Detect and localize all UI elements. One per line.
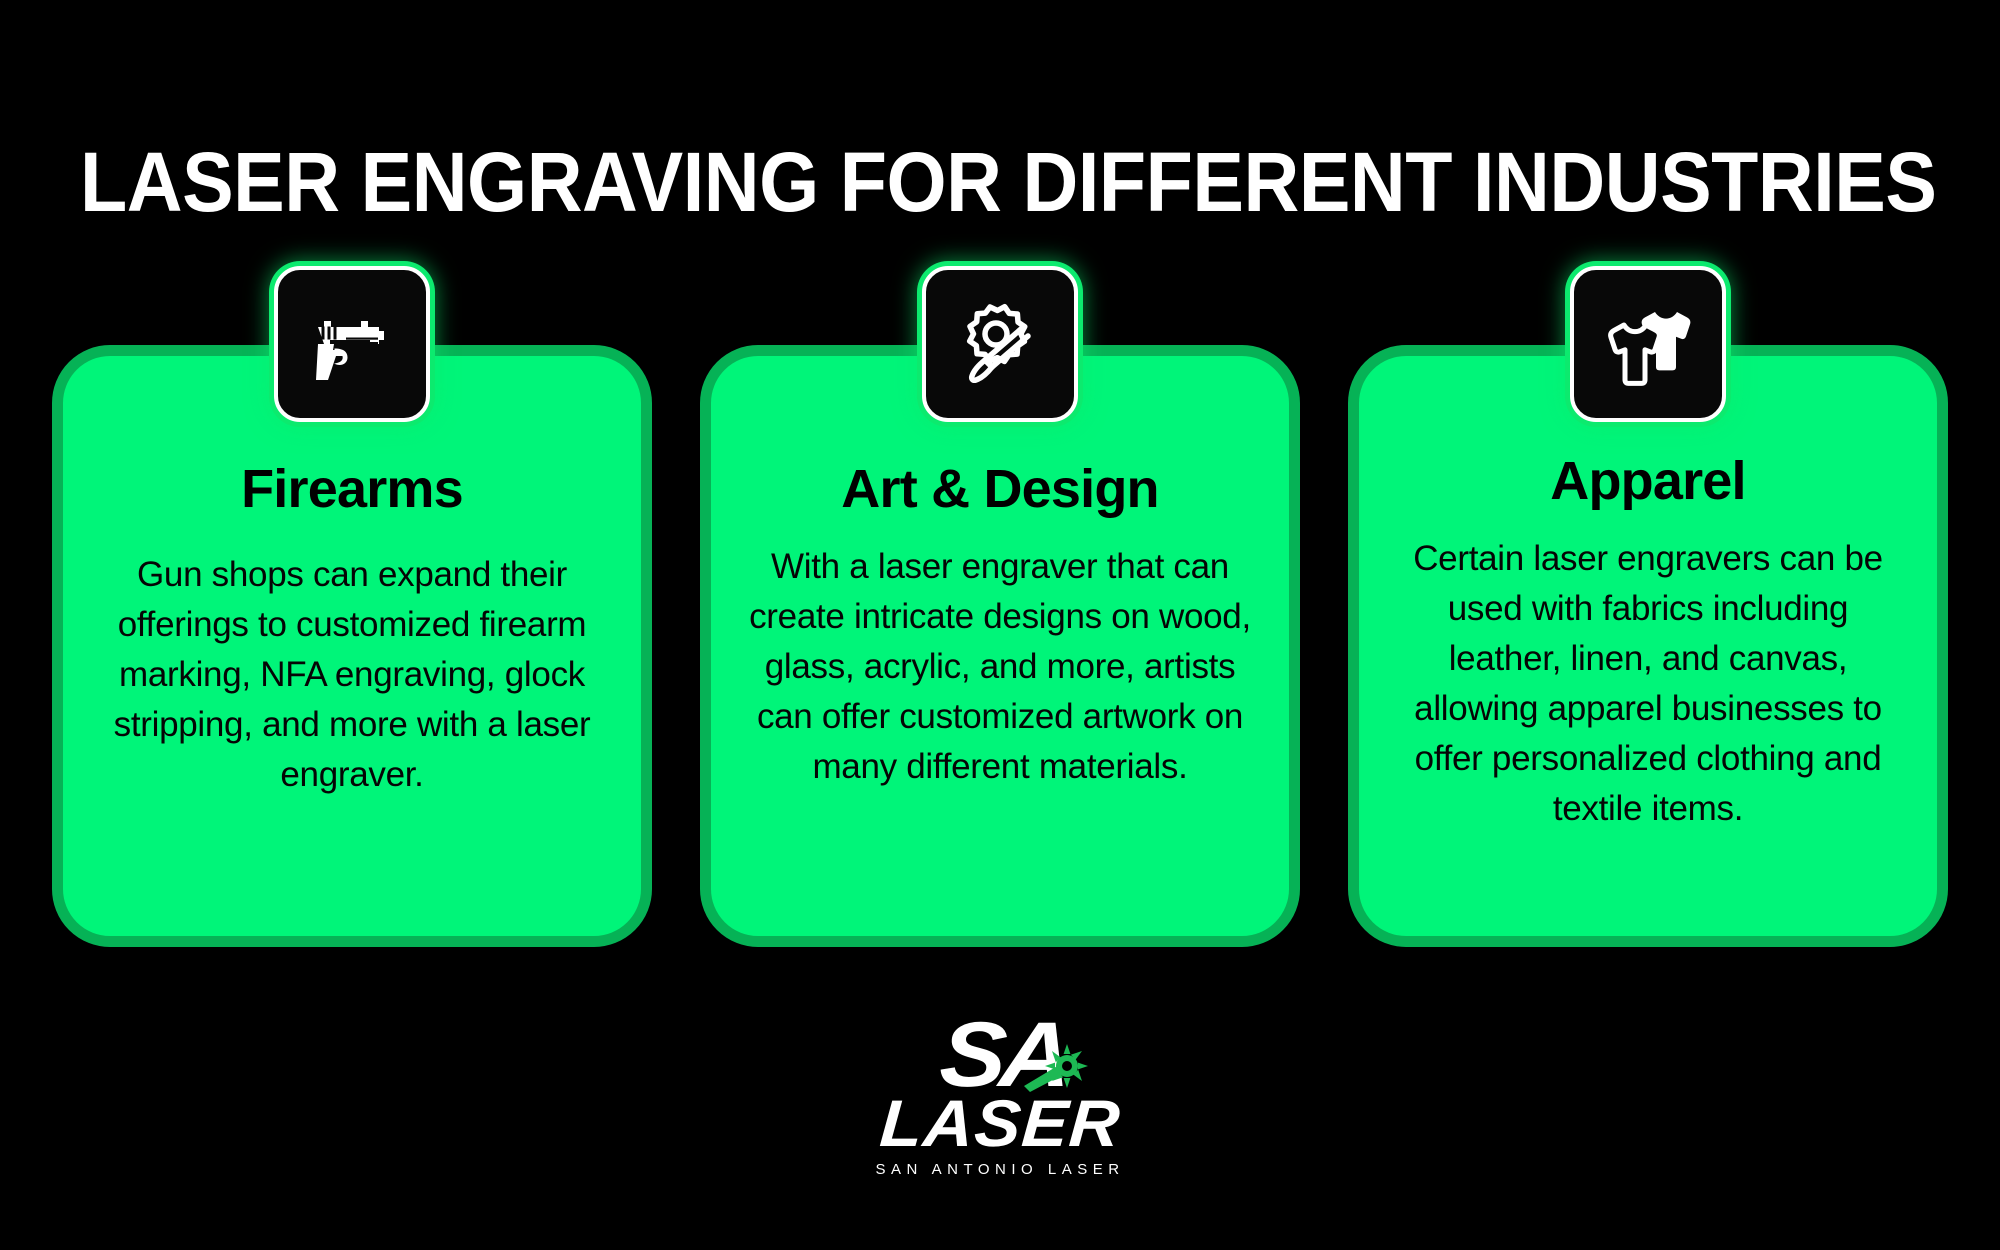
card-body: With a laser engraver that can create in… — [740, 542, 1260, 792]
card-heading: Art & Design — [841, 458, 1158, 520]
infographic-canvas: LASER ENGRAVING FOR DIFFERENT INDUSTRIES — [0, 0, 2000, 1250]
card-heading: Apparel — [1550, 450, 1745, 512]
logo-wordmark-laser: LASER — [878, 1092, 1122, 1154]
card-heading: Firearms — [241, 458, 463, 520]
gear-paintbrush-icon-badge — [922, 266, 1078, 422]
pistol-icon — [304, 296, 400, 392]
gear-paintbrush-icon — [952, 296, 1048, 392]
industry-card-firearms: Firearms Gun shops can expand their offe… — [52, 345, 652, 947]
brand-logo: SA — [0, 1012, 2000, 1180]
pistol-icon-badge — [274, 266, 430, 422]
card-body: Gun shops can expand their offerings to … — [92, 550, 612, 800]
page-title: LASER ENGRAVING FOR DIFFERENT INDUSTRIES — [80, 134, 1920, 230]
logo-tagline: SAN ANTONIO LASER — [875, 1160, 1124, 1180]
card-body: Certain laser engravers can be used with… — [1388, 534, 1908, 834]
industry-card-art-design: Art & Design With a laser engraver that … — [700, 345, 1300, 947]
tshirts-icon — [1600, 296, 1696, 392]
industry-card-apparel: Apparel Certain laser engravers can be u… — [1348, 345, 1948, 947]
tshirts-icon-badge — [1570, 266, 1726, 422]
industry-cards-row: Firearms Gun shops can expand their offe… — [52, 345, 1948, 947]
